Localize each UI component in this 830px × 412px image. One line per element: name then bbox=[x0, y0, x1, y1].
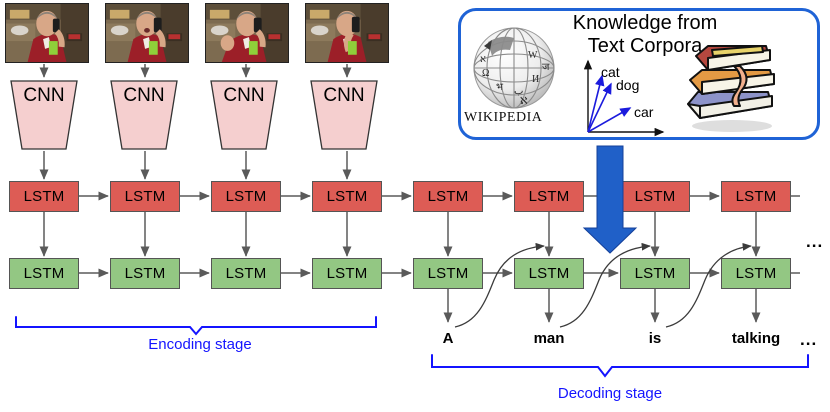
cnn-block-1: CNN bbox=[9, 79, 79, 151]
cnn-block-2: CNN bbox=[109, 79, 179, 151]
cell-label: LSTM bbox=[327, 265, 368, 282]
cell-label: LSTM bbox=[327, 188, 368, 205]
embedding-label-car: car bbox=[634, 104, 653, 120]
word-embedding-plot bbox=[575, 56, 671, 140]
decoder-cell-7[interactable]: LSTM bbox=[620, 258, 690, 289]
output-word-2: man bbox=[514, 330, 584, 347]
wikipedia-globe-icon: ΩWИ भبא ℵज bbox=[466, 24, 562, 114]
cnn-block-3: CNN bbox=[209, 79, 279, 151]
encoder-cell-5[interactable]: LSTM bbox=[413, 181, 483, 212]
decoder-cell-6[interactable]: LSTM bbox=[514, 258, 584, 289]
row-ellipsis: ... bbox=[806, 232, 823, 252]
svg-text:И: И bbox=[532, 74, 539, 85]
output-word-4: talking bbox=[721, 330, 791, 347]
decoding-stage-label: Decoding stage bbox=[520, 385, 700, 402]
encoding-stage-label: Encoding stage bbox=[110, 336, 290, 353]
cell-label: LSTM bbox=[24, 265, 65, 282]
cell-label: LSTM bbox=[428, 188, 469, 205]
wikipedia-wordmark: WIKIPEDIA bbox=[464, 110, 542, 126]
encoder-cell-7[interactable]: LSTM bbox=[620, 181, 690, 212]
decoder-cell-8[interactable]: LSTM bbox=[721, 258, 791, 289]
decoder-cell-3[interactable]: LSTM bbox=[211, 258, 281, 289]
encoder-cell-1[interactable]: LSTM bbox=[9, 181, 79, 212]
encoder-cell-6[interactable]: LSTM bbox=[514, 181, 584, 212]
cnn-label: CNN bbox=[109, 85, 179, 107]
decoder-cell-1[interactable]: LSTM bbox=[9, 258, 79, 289]
video-frame-1 bbox=[5, 3, 89, 63]
decoder-cell-5[interactable]: LSTM bbox=[413, 258, 483, 289]
figure-canvas: CNN CNN CNN CNN Knowledge from Text Corp… bbox=[0, 0, 830, 412]
cell-label: LSTM bbox=[125, 265, 166, 282]
cell-label: LSTM bbox=[635, 188, 676, 205]
output-word-3: is bbox=[620, 330, 690, 347]
encoder-cell-4[interactable]: LSTM bbox=[312, 181, 382, 212]
embedding-label-dog: dog bbox=[616, 77, 639, 93]
cell-label: LSTM bbox=[226, 265, 267, 282]
cnn-label: CNN bbox=[309, 85, 379, 107]
cell-label: LSTM bbox=[736, 188, 777, 205]
cnn-label: CNN bbox=[209, 85, 279, 107]
encoder-cell-3[interactable]: LSTM bbox=[211, 181, 281, 212]
cell-label: LSTM bbox=[529, 265, 570, 282]
decoder-cell-2[interactable]: LSTM bbox=[110, 258, 180, 289]
cell-label: LSTM bbox=[125, 188, 166, 205]
decoder-cell-4[interactable]: LSTM bbox=[312, 258, 382, 289]
svg-text:Ω: Ω bbox=[482, 68, 489, 79]
svg-text:ज: ज bbox=[542, 62, 550, 73]
encoder-cell-8[interactable]: LSTM bbox=[721, 181, 791, 212]
cell-label: LSTM bbox=[736, 265, 777, 282]
cell-label: LSTM bbox=[24, 188, 65, 205]
cell-label: LSTM bbox=[635, 265, 676, 282]
cell-label: LSTM bbox=[226, 188, 267, 205]
output-ellipsis: ... bbox=[800, 330, 817, 350]
output-word-1: A bbox=[413, 330, 483, 347]
cell-label: LSTM bbox=[529, 188, 570, 205]
cnn-block-4: CNN bbox=[309, 79, 379, 151]
encoder-cell-2[interactable]: LSTM bbox=[110, 181, 180, 212]
cell-label: LSTM bbox=[428, 265, 469, 282]
video-frame-2 bbox=[105, 3, 189, 63]
video-frame-4 bbox=[305, 3, 389, 63]
svg-text:א: א bbox=[480, 54, 486, 65]
video-frame-3 bbox=[205, 3, 289, 63]
svg-text:ℵ: ℵ bbox=[520, 96, 528, 107]
cnn-label: CNN bbox=[9, 85, 79, 107]
books-icon bbox=[682, 30, 778, 134]
svg-text:W: W bbox=[528, 50, 538, 61]
svg-text:भ: भ bbox=[496, 82, 504, 93]
